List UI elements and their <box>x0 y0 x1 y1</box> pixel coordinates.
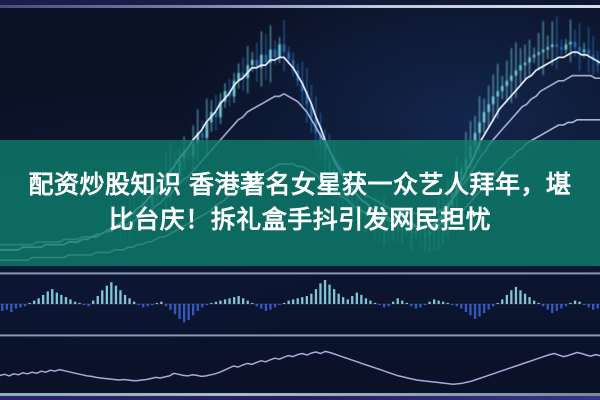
indicator-line-series <box>0 351 600 384</box>
headline-banner: 配资炒股知识 香港著名女星获一众艺人拜年，堪 比台庆！拆礼盒手抖引发网民担忧 <box>0 140 600 266</box>
macd-histogram-series <box>0 280 600 322</box>
stock-chart-news-banner: 配资炒股知识 香港著名女星获一众艺人拜年，堪 比台庆！拆礼盒手抖引发网民担忧 <box>0 0 600 400</box>
top-light-rule <box>0 5 600 8</box>
bottom-dark-rule <box>0 396 600 400</box>
panel-separator-lower <box>0 334 600 337</box>
panel-separator-upper <box>0 272 600 275</box>
headline-line-1: 配资炒股知识 香港著名女星获一众艺人拜年，堪 <box>29 168 572 204</box>
headline-line-2: 比台庆！拆礼盒手抖引发网民担忧 <box>109 203 492 239</box>
